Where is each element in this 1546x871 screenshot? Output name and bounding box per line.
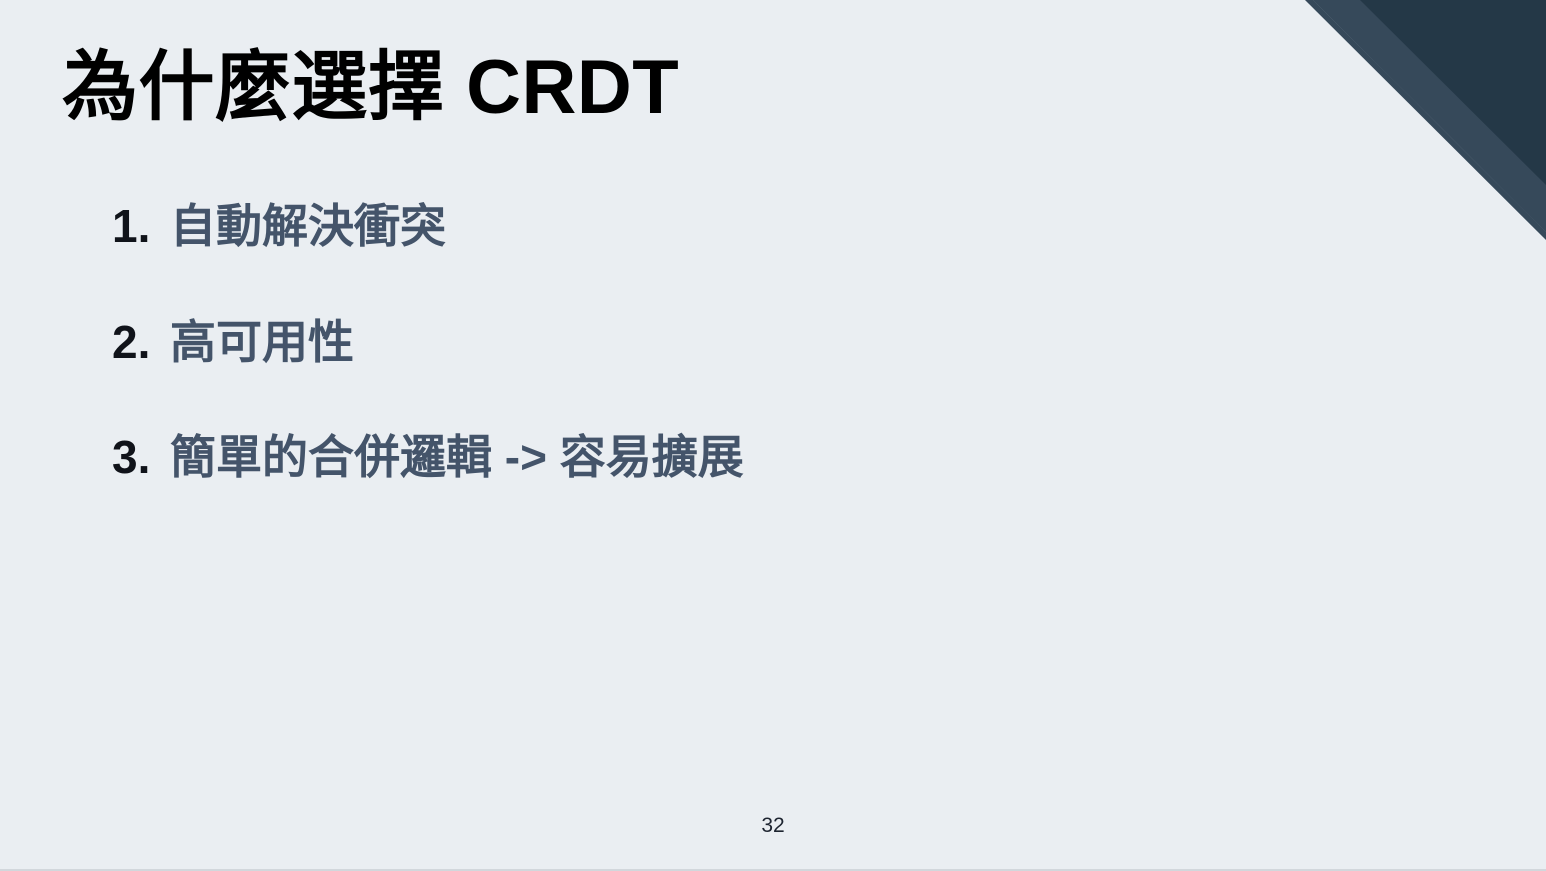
corner-triangle-band-inner [1313, 0, 1546, 232]
list-item-marker: 3. [112, 429, 170, 487]
list-item: 1. 自動解決衝突 [112, 198, 1212, 256]
corner-triangle-band [1305, 0, 1546, 240]
list-item-marker: 1. [112, 198, 170, 256]
list-item-label: 簡單的合併邏輯 -> 容易擴展 [170, 429, 744, 487]
bullet-list: 1. 自動解決衝突 2. 高可用性 3. 簡單的合併邏輯 -> 容易擴展 [112, 198, 1212, 487]
corner-triangle-decoration [1280, 0, 1546, 240]
corner-triangle-fill [1313, 0, 1546, 232]
list-item: 3. 簡單的合併邏輯 -> 容易擴展 [112, 429, 1212, 487]
list-item-label: 高可用性 [170, 314, 354, 372]
page-number: 32 [0, 814, 1546, 838]
list-item-marker: 2. [112, 314, 170, 372]
presentation-slide: 為什麼選擇 CRDT 1. 自動解決衝突 2. 高可用性 3. 簡單的合併邏輯 … [0, 0, 1546, 871]
list-item-label: 自動解決衝突 [170, 198, 446, 256]
list-item: 2. 高可用性 [112, 314, 1212, 372]
page-title: 為什麼選擇 CRDT [62, 48, 679, 128]
